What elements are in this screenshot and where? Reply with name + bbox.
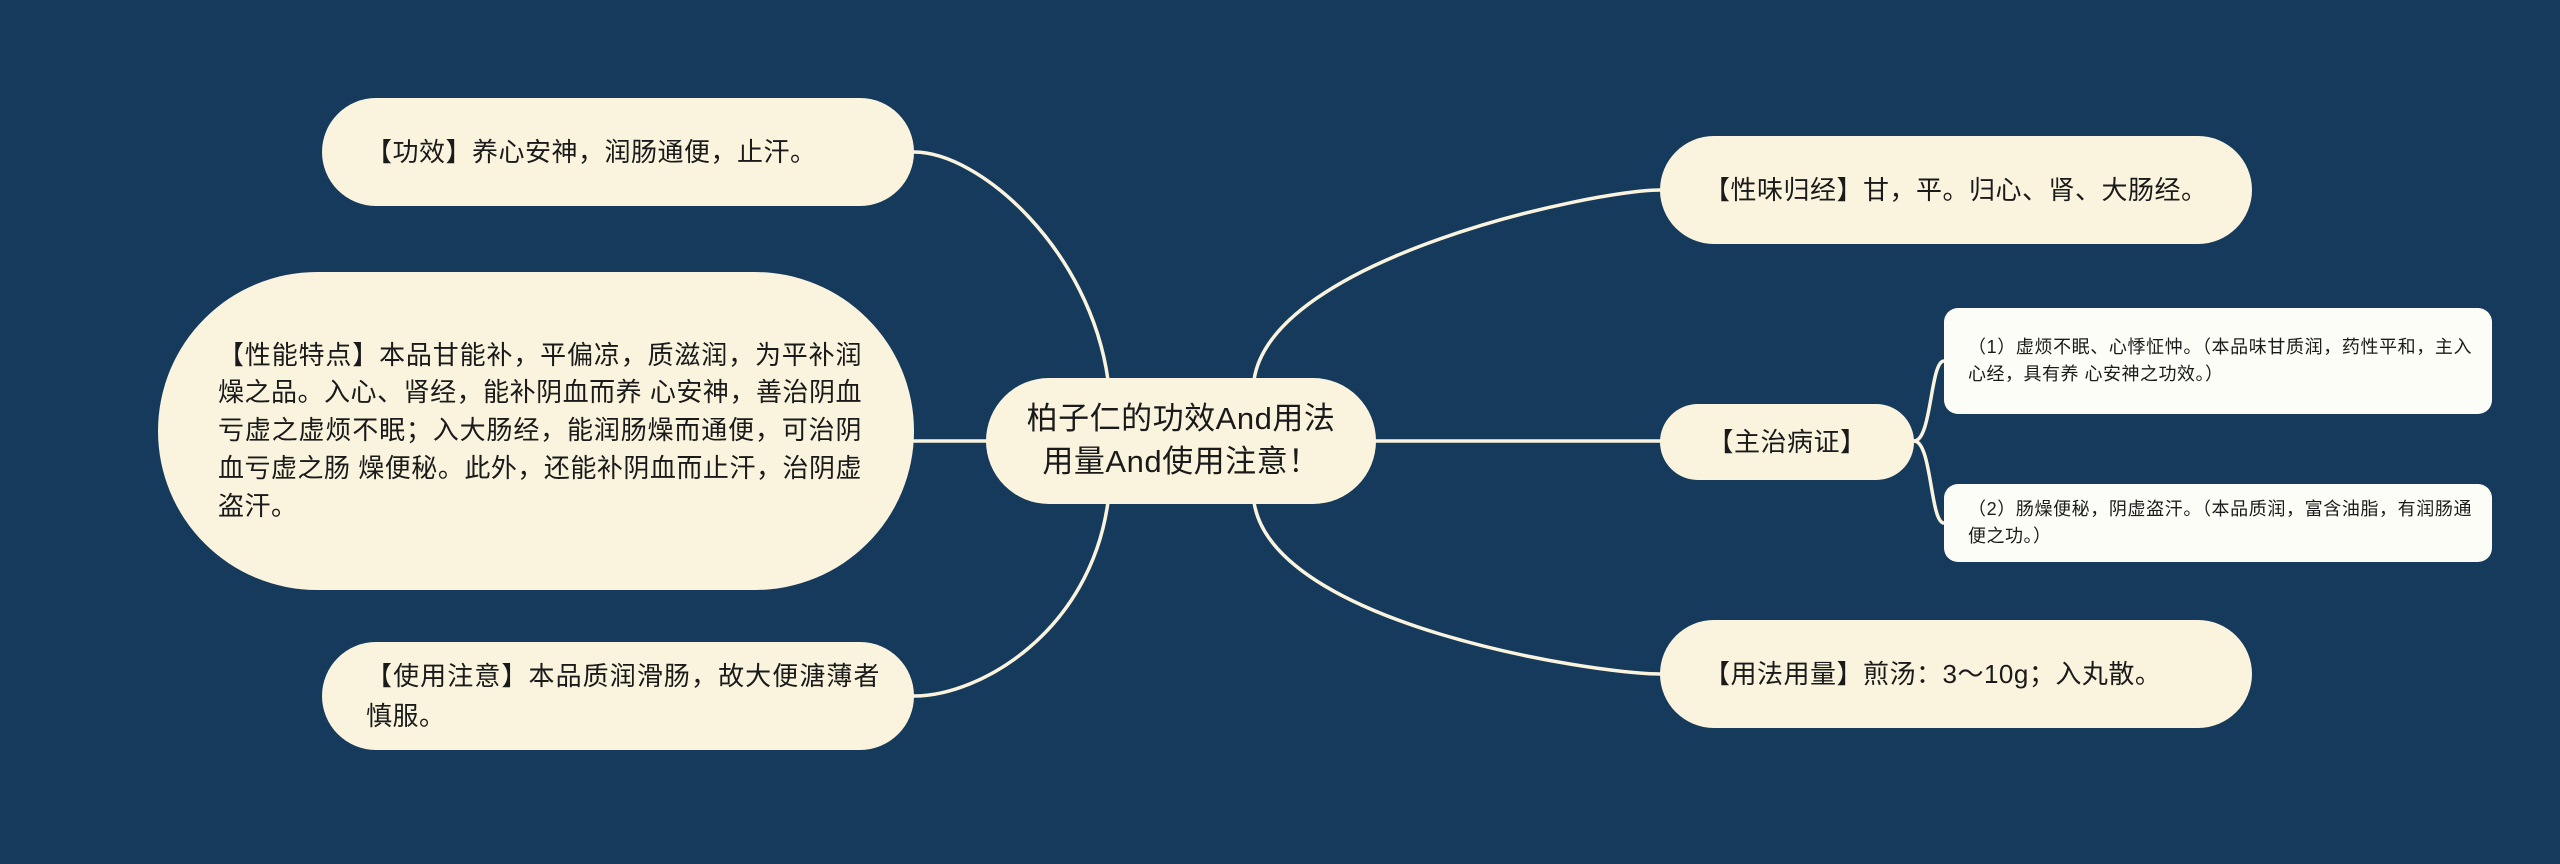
mindmap-node-yongfa-yongliang[interactable]: 【用法用量】煎汤：3～10g；入丸散。 [1660, 620, 2252, 728]
mindmap-node-xingwei-guijing[interactable]: 【性味归经】甘，平。归心、肾、大肠经。 [1660, 136, 2252, 244]
mindmap-center-node[interactable]: 柏子仁的功效And用法用量And使用注意！ [986, 378, 1376, 504]
mindmap-node-xingneng-tedian[interactable]: 【性能特点】本品甘能补，平偏凉，质滋润，为平补润燥之品。入心、肾经，能补阴血而养… [158, 272, 914, 590]
connector-center-to-shiyongzhuyi [914, 502, 1108, 696]
node-zhuzhi-bingzheng-label: 【主治病证】 [1684, 422, 1890, 462]
node-shiyong-zhuyi-label: 【使用注意】本品质润滑肠，故大便溏薄者慎服。 [366, 656, 880, 737]
connector-zhuzhi-to-zz1 [1914, 361, 1944, 441]
mindmap-node-shiyong-zhuyi[interactable]: 【使用注意】本品质润滑肠，故大便溏薄者慎服。 [322, 642, 914, 750]
node-gongxiao-label: 【功效】养心安神，润肠通便，止汗。 [366, 132, 880, 172]
node-xingneng-tedian-label: 【性能特点】本品甘能补，平偏凉，质滋润，为平补润燥之品。入心、肾经，能补阴血而养… [218, 337, 862, 525]
mindmap-node-zhuzhi-bingzheng[interactable]: 【主治病证】 [1660, 404, 1914, 480]
connector-center-to-gongxiao [914, 152, 1108, 380]
mindmap-subnode-zhuzhi-2[interactable]: （2）肠燥便秘，阴虚盗汗。（本品质润，富含油脂，有润肠通便之功。） [1944, 484, 2492, 562]
connector-zhuzhi-to-zz2 [1914, 441, 1944, 523]
node-xingwei-guijing-label: 【性味归经】甘，平。归心、肾、大肠经。 [1704, 170, 2218, 210]
center-node-label: 柏子仁的功效And用法用量And使用注意！ [1016, 398, 1346, 484]
subnode-zhuzhi-2-label: （2）肠燥便秘，阴虚盗汗。（本品质润，富含油脂，有润肠通便之功。） [1968, 496, 2472, 551]
connector-center-to-yongfayongliang [1254, 502, 1660, 674]
node-yongfa-yongliang-label: 【用法用量】煎汤：3～10g；入丸散。 [1704, 654, 2218, 694]
mindmap-node-gongxiao[interactable]: 【功效】养心安神，润肠通便，止汗。 [322, 98, 914, 206]
subnode-zhuzhi-1-label: （1）虚烦不眠、心悸怔忡。（本品味甘质润，药性平和，主入心经，具有养 心安神之功… [1968, 334, 2472, 389]
mindmap-canvas: 柏子仁的功效And用法用量And使用注意！ 【功效】养心安神，润肠通便，止汗。 … [0, 0, 2560, 864]
connector-center-to-xingweiguijing [1254, 190, 1660, 380]
mindmap-subnode-zhuzhi-1[interactable]: （1）虚烦不眠、心悸怔忡。（本品味甘质润，药性平和，主入心经，具有养 心安神之功… [1944, 308, 2492, 414]
